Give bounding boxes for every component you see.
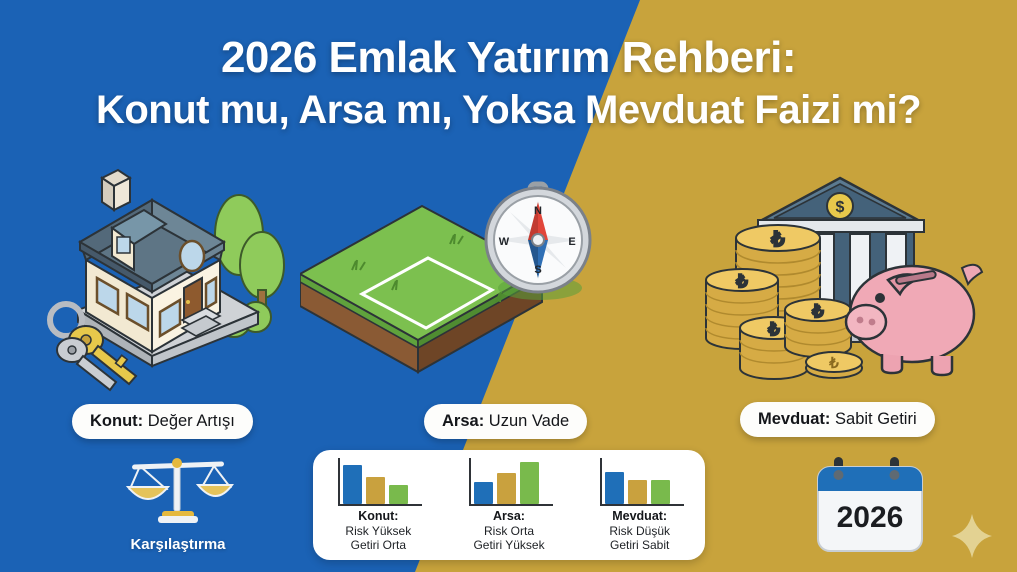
- mini-line-2: Getiri Yüksek: [473, 538, 544, 552]
- mini-chart-konut: Konut: Risk Yüksek Getiri Orta: [313, 458, 444, 552]
- bar-getiri: [366, 477, 385, 504]
- compass-icon: N S E W: [486, 184, 590, 292]
- sparkle-icon: [950, 512, 994, 560]
- svg-text:₺: ₺: [812, 302, 824, 321]
- badge-arsa-value: Uzun Vade: [484, 412, 569, 430]
- svg-text:₺: ₺: [736, 272, 748, 291]
- bar-risk: [343, 465, 362, 504]
- svg-text:₺: ₺: [828, 355, 839, 372]
- house-with-keys-illustration: [34, 160, 296, 405]
- mini-chart-arsa: Arsa: Risk Orta Getiri Yüksek: [444, 458, 575, 552]
- bar-getiri: [628, 480, 647, 504]
- mini-plot-mevduat: [592, 458, 688, 506]
- svg-text:N: N: [534, 205, 542, 217]
- x-axis: [600, 504, 684, 506]
- svg-text:E: E: [568, 236, 575, 248]
- badge-arsa-key: Arsa:: [442, 412, 484, 430]
- bars-group: [605, 460, 685, 504]
- comparison-block: Karşılaştırma: [118, 455, 238, 553]
- title-line-1: 2026 Emlak Yatırım Rehberi:: [0, 34, 1017, 82]
- dormer-window-icon: [117, 237, 130, 253]
- mini-caption-mevduat: Mevduat: Risk Düşük Getiri Sabit: [609, 509, 670, 552]
- mini-title: Konut:: [345, 509, 411, 524]
- mini-chart-mevduat: Mevduat: Risk Düşük Getiri Sabit: [574, 458, 705, 552]
- badge-konut-value: Değer Artışı: [143, 412, 235, 430]
- piggy-eye: [875, 293, 885, 303]
- calendar-icon: 2026: [812, 455, 928, 555]
- round-window-icon: [180, 241, 204, 271]
- mini-caption-konut: Konut: Risk Yüksek Getiri Orta: [345, 509, 411, 552]
- coin-icon: ₺: [806, 352, 862, 378]
- title-line-2: Konut mu, Arsa mı, Yoksa Mevduat Faizi m…: [0, 88, 1017, 133]
- mini-line-2: Getiri Orta: [345, 538, 411, 552]
- badge-konut[interactable]: Konut: Değer Artışı: [72, 404, 253, 439]
- calendar-year: 2026: [837, 501, 904, 534]
- piggy-snout: [846, 305, 886, 339]
- bar-vade: [651, 480, 670, 504]
- bar-risk: [474, 482, 493, 504]
- mini-line-1: Risk Düşük: [609, 524, 670, 538]
- sparkle-decoration: [950, 512, 994, 565]
- svg-text:$: $: [836, 199, 845, 216]
- y-axis: [338, 458, 340, 504]
- bank-coins-piggybank-illustration: $: [700, 168, 990, 403]
- mini-caption-arsa: Arsa: Risk Orta Getiri Yüksek: [473, 509, 544, 552]
- badge-mevduat[interactable]: Mevduat: Sabit Getiri: [740, 402, 935, 437]
- badge-konut-key: Konut:: [90, 412, 143, 430]
- bar-vade: [389, 485, 408, 504]
- x-axis: [469, 504, 553, 506]
- mini-title: Mevduat:: [609, 509, 670, 524]
- x-axis: [338, 504, 422, 506]
- mini-plot-konut: [330, 458, 426, 506]
- bar-vade: [520, 462, 539, 504]
- comparison-chart-card: Konut: Risk Yüksek Getiri Orta Arsa: Ris…: [313, 450, 705, 560]
- title-block: 2026 Emlak Yatırım Rehberi: Konut mu, Ar…: [0, 34, 1017, 132]
- bar-risk: [605, 472, 624, 504]
- bars-group: [474, 460, 554, 504]
- coin-stack-icon: ₺: [785, 299, 851, 357]
- mini-title: Arsa:: [473, 509, 544, 524]
- mini-plot-arsa: [461, 458, 557, 506]
- svg-text:₺: ₺: [768, 320, 780, 339]
- y-axis: [469, 458, 471, 504]
- badge-mevduat-key: Mevduat:: [758, 410, 830, 428]
- mini-line-2: Getiri Sabit: [609, 538, 670, 552]
- bars-group: [343, 460, 423, 504]
- y-axis: [600, 458, 602, 504]
- badge-mevduat-value: Sabit Getiri: [830, 410, 916, 428]
- piggy-bank-icon: [846, 265, 982, 375]
- calendar-widget: 2026: [812, 455, 928, 560]
- svg-text:W: W: [499, 236, 510, 248]
- comparison-label: Karşılaştırma: [118, 536, 238, 553]
- mini-line-1: Risk Orta: [473, 524, 544, 538]
- bar-getiri: [497, 473, 516, 504]
- svg-text:₺: ₺: [771, 229, 785, 251]
- balance-scales-icon: [122, 455, 234, 529]
- infographic-canvas: 2026 Emlak Yatırım Rehberi: Konut mu, Ar…: [0, 0, 1017, 572]
- land-plot-with-compass-illustration: N S E W: [300, 178, 620, 398]
- mini-line-1: Risk Yüksek: [345, 524, 411, 538]
- badge-arsa[interactable]: Arsa: Uzun Vade: [424, 404, 587, 439]
- svg-text:S: S: [534, 264, 541, 276]
